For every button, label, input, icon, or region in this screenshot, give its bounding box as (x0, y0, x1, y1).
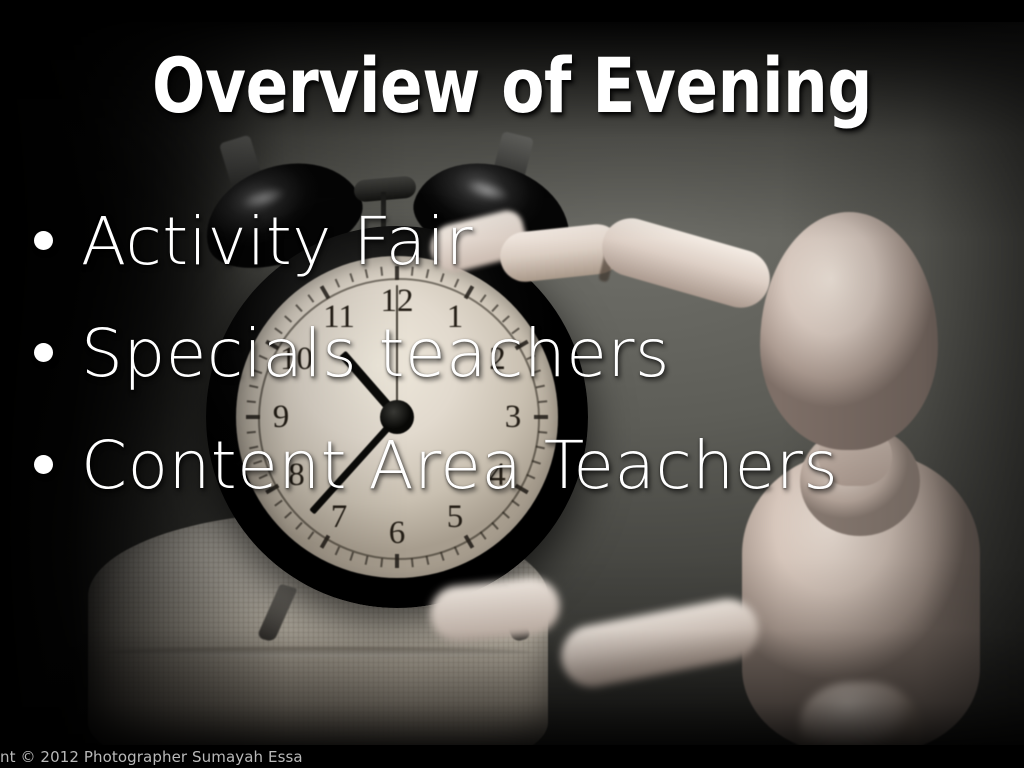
bullet-dot-icon (34, 231, 53, 250)
bullet-dot-icon (34, 455, 53, 474)
bullet-label: Activity Fair (81, 206, 473, 278)
bullet-label: Content Area Teachers (81, 430, 838, 502)
list-item: Activity Fair (34, 206, 994, 318)
list-item: Content Area Teachers (34, 430, 994, 542)
letterbox-bar-top (0, 0, 1024, 22)
slide: 121234567891011 (0, 0, 1024, 768)
bullet-dot-icon (34, 343, 53, 362)
photo-credit: nt © 2012 Photographer Sumayah Essa (0, 746, 303, 768)
slide-title: Overview of Evening (41, 44, 983, 128)
bullet-label: Specials teachers (81, 318, 670, 390)
bullet-list: Activity Fair Specials teachers Content … (34, 206, 994, 542)
list-item: Specials teachers (34, 318, 994, 430)
